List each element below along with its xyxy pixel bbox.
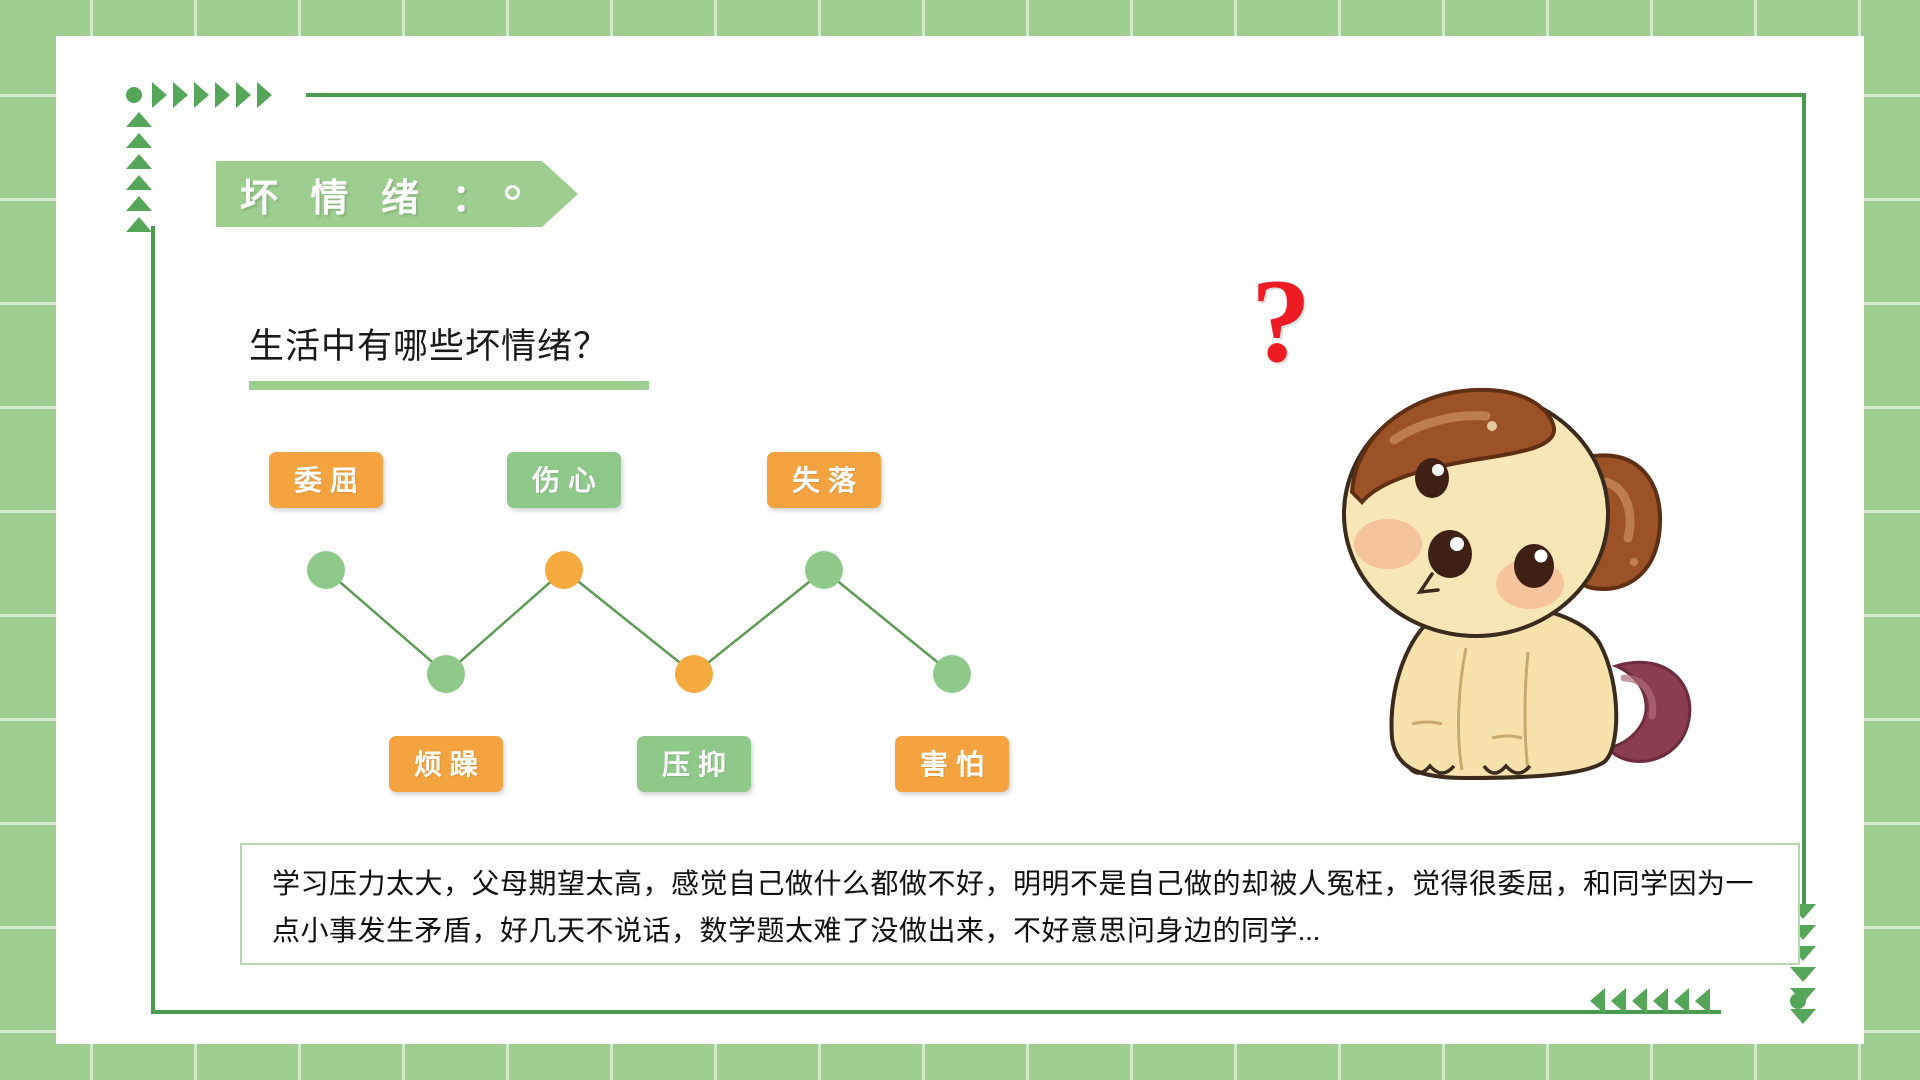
diagram-node[interactable] (933, 655, 971, 693)
slide-canvas: 坏 情 绪 ： 生活中有哪些坏情绪？ 委屈烦躁伤心压抑失落害怕 ? (56, 36, 1864, 1044)
emotion-badge[interactable]: 压抑 (637, 736, 751, 792)
description-textbox: 学习压力太大，父母期望太高，感觉自己做什么都做不好，明明不是自己做的却被人冤枉，… (240, 843, 1800, 965)
diagram-node[interactable] (427, 655, 465, 693)
cartoon-dog-illustration (1316, 366, 1736, 801)
description-text: 学习压力太大，父母期望太高，感觉自己做什么都做不好，明明不是自己做的却被人冤枉，… (272, 861, 1772, 955)
question-mark-icon: ? (1251, 261, 1311, 381)
diagram-node[interactable] (805, 551, 843, 589)
diagram-node[interactable] (545, 551, 583, 589)
zigzag-connector-lines (56, 36, 1156, 796)
emotion-badge[interactable]: 委屈 (269, 452, 383, 508)
emotion-badge[interactable]: 伤心 (507, 452, 621, 508)
diagram-node[interactable] (307, 551, 345, 589)
emotion-badge[interactable]: 烦躁 (389, 736, 503, 792)
emotion-badge[interactable]: 害怕 (895, 736, 1009, 792)
diagram-node[interactable] (675, 655, 713, 693)
emotion-badge[interactable]: 失落 (767, 452, 881, 508)
